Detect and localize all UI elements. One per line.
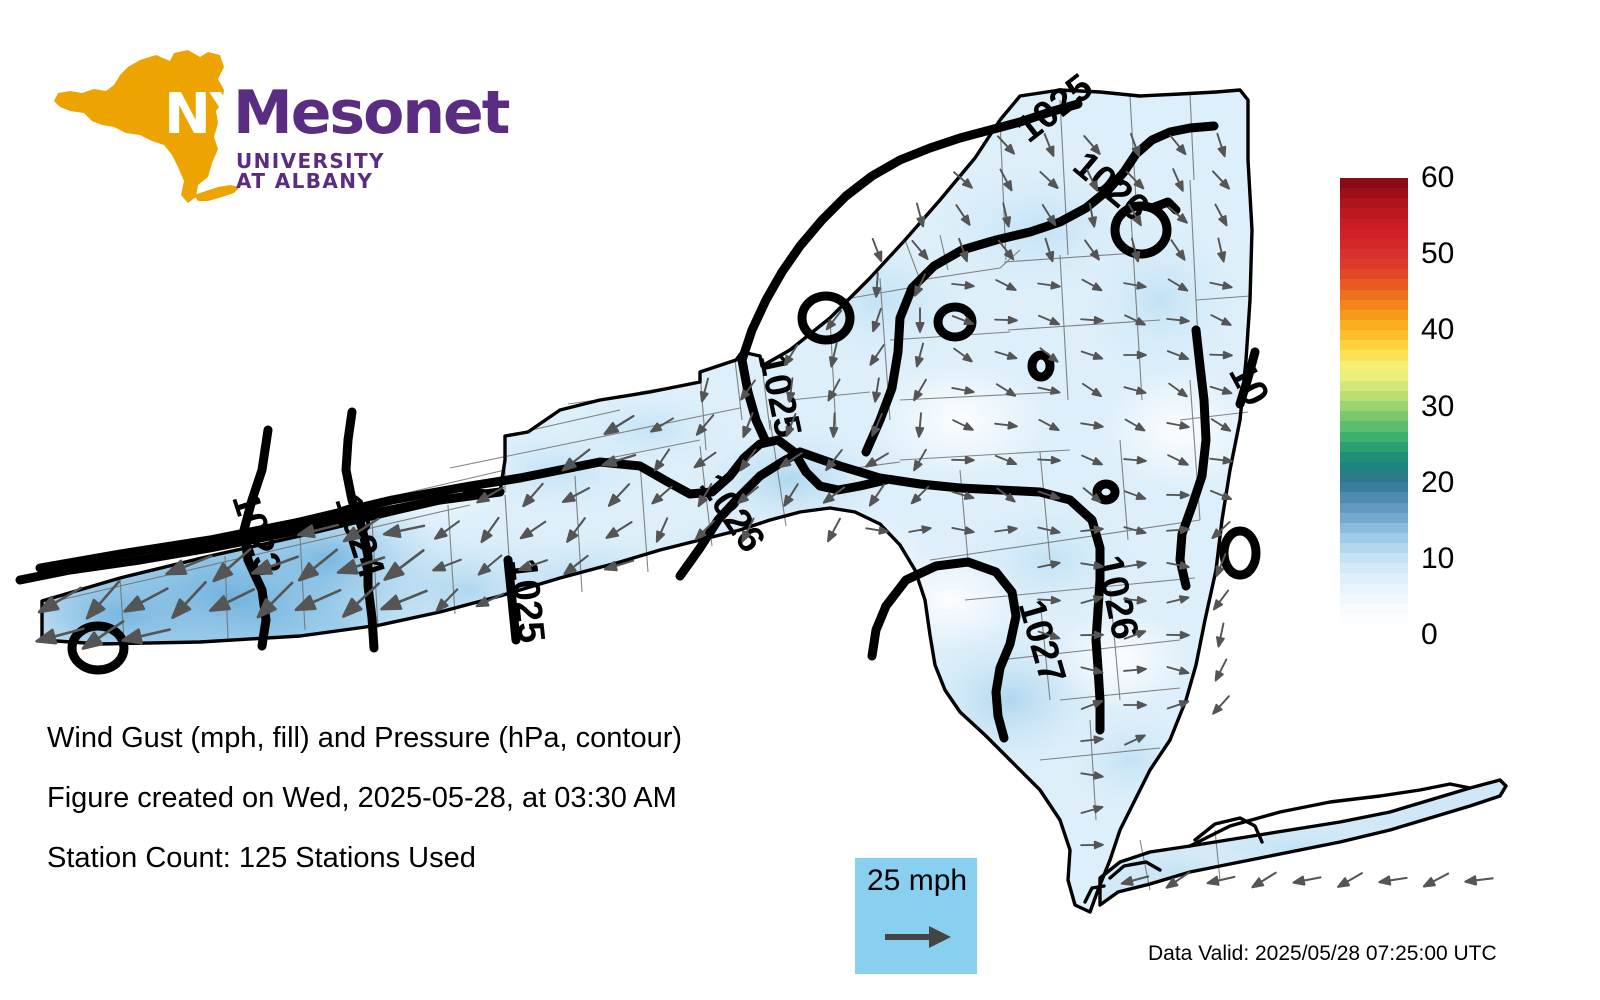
- colorbar-band: [1340, 279, 1408, 289]
- colorbar-band: [1340, 330, 1408, 340]
- colorbar-band: [1340, 198, 1408, 208]
- colorbar-band: [1340, 219, 1408, 229]
- wind-speed-key: 25 mph: [855, 858, 977, 974]
- colorbar-band: [1340, 371, 1408, 381]
- colorbar-band: [1340, 381, 1408, 391]
- colorbar-tick-label: 30: [1421, 392, 1454, 422]
- colorbar-band: [1340, 391, 1408, 401]
- station-count-text: Station Count: 125 Stations Used: [47, 842, 476, 875]
- colorbar-band: [1340, 553, 1408, 563]
- colorbar-band: [1340, 503, 1408, 513]
- colorbar-band: [1340, 290, 1408, 300]
- colorbar-band: [1340, 340, 1408, 350]
- colorbar-band: [1340, 563, 1408, 573]
- colorbar-band: [1340, 239, 1408, 249]
- colorbar-band: [1340, 543, 1408, 553]
- colorbar-band: [1340, 442, 1408, 452]
- wind-vector-arrow: [1379, 874, 1407, 886]
- colorbar-band: [1340, 513, 1408, 523]
- colorbar-band: [1340, 624, 1408, 634]
- figure-canvas: NYS Mesonet UNIVERSITY AT ALBANY: [0, 0, 1600, 1000]
- colorbar-tick-label: 40: [1421, 315, 1454, 345]
- colorbar-band: [1340, 269, 1408, 279]
- figure-title: Wind Gust (mph, fill) and Pressure (hPa,…: [47, 722, 682, 755]
- wind-vector-arrow: [1212, 658, 1229, 682]
- wind-arrow-icon: [885, 924, 951, 950]
- colorbar-band: [1340, 188, 1408, 198]
- wind-vector-arrow: [1422, 870, 1450, 890]
- colorbar-band: [1340, 482, 1408, 492]
- wind-vector-arrow: [1211, 588, 1231, 611]
- wind-vector-arrow: [1250, 869, 1278, 890]
- gust-colorbar-ticks: 6050403020100: [1421, 160, 1501, 660]
- colorbar-band: [1340, 401, 1408, 411]
- colorbar-band: [1340, 350, 1408, 360]
- colorbar-band: [1340, 523, 1408, 533]
- colorbar-band: [1340, 472, 1408, 482]
- wind-vector-arrow: [1215, 623, 1227, 648]
- colorbar-band: [1340, 310, 1408, 320]
- colorbar-band: [1340, 584, 1408, 594]
- colorbar-tick-label: 50: [1421, 239, 1454, 269]
- colorbar-band: [1340, 452, 1408, 462]
- colorbar-tick-label: 60: [1421, 163, 1454, 193]
- wind-key-label: 25 mph: [867, 864, 967, 898]
- colorbar-tick-label: 20: [1421, 468, 1454, 498]
- colorbar-band: [1340, 533, 1408, 543]
- colorbar-band: [1340, 594, 1408, 604]
- colorbar-band: [1340, 614, 1408, 624]
- wind-vector-arrow: [825, 517, 844, 543]
- colorbar-band: [1340, 208, 1408, 218]
- colorbar-band: [1340, 573, 1408, 583]
- data-valid-text: Data Valid: 2025/05/28 07:25:00 UTC: [1148, 942, 1497, 966]
- colorbar-band: [1340, 320, 1408, 330]
- colorbar-band: [1340, 249, 1408, 259]
- wind-vector-arrow: [1293, 873, 1322, 886]
- wind-vector-arrow: [1465, 874, 1493, 885]
- colorbar-band: [1340, 229, 1408, 239]
- wind-vector-arrow: [1207, 873, 1236, 887]
- colorbar-band: [1340, 300, 1408, 310]
- colorbar-band: [1340, 432, 1408, 442]
- colorbar-band: [1340, 604, 1408, 614]
- wind-vector-arrow: [869, 238, 884, 263]
- colorbar-band: [1340, 411, 1408, 421]
- colorbar-band: [1340, 462, 1408, 472]
- colorbar-band: [1340, 259, 1408, 269]
- colorbar-band: [1340, 361, 1408, 371]
- colorbar-tick-label: 0: [1421, 620, 1438, 650]
- wind-vector-arrow: [1210, 694, 1231, 716]
- colorbar-tick-label: 10: [1421, 544, 1454, 574]
- colorbar-band: [1340, 178, 1408, 188]
- colorbar-band: [1340, 492, 1408, 502]
- wind-vector-arrow: [1336, 870, 1364, 891]
- gust-colorbar: [1340, 178, 1408, 635]
- colorbar-band: [1340, 421, 1408, 431]
- figure-created-text: Figure created on Wed, 2025-05-28, at 03…: [47, 782, 677, 815]
